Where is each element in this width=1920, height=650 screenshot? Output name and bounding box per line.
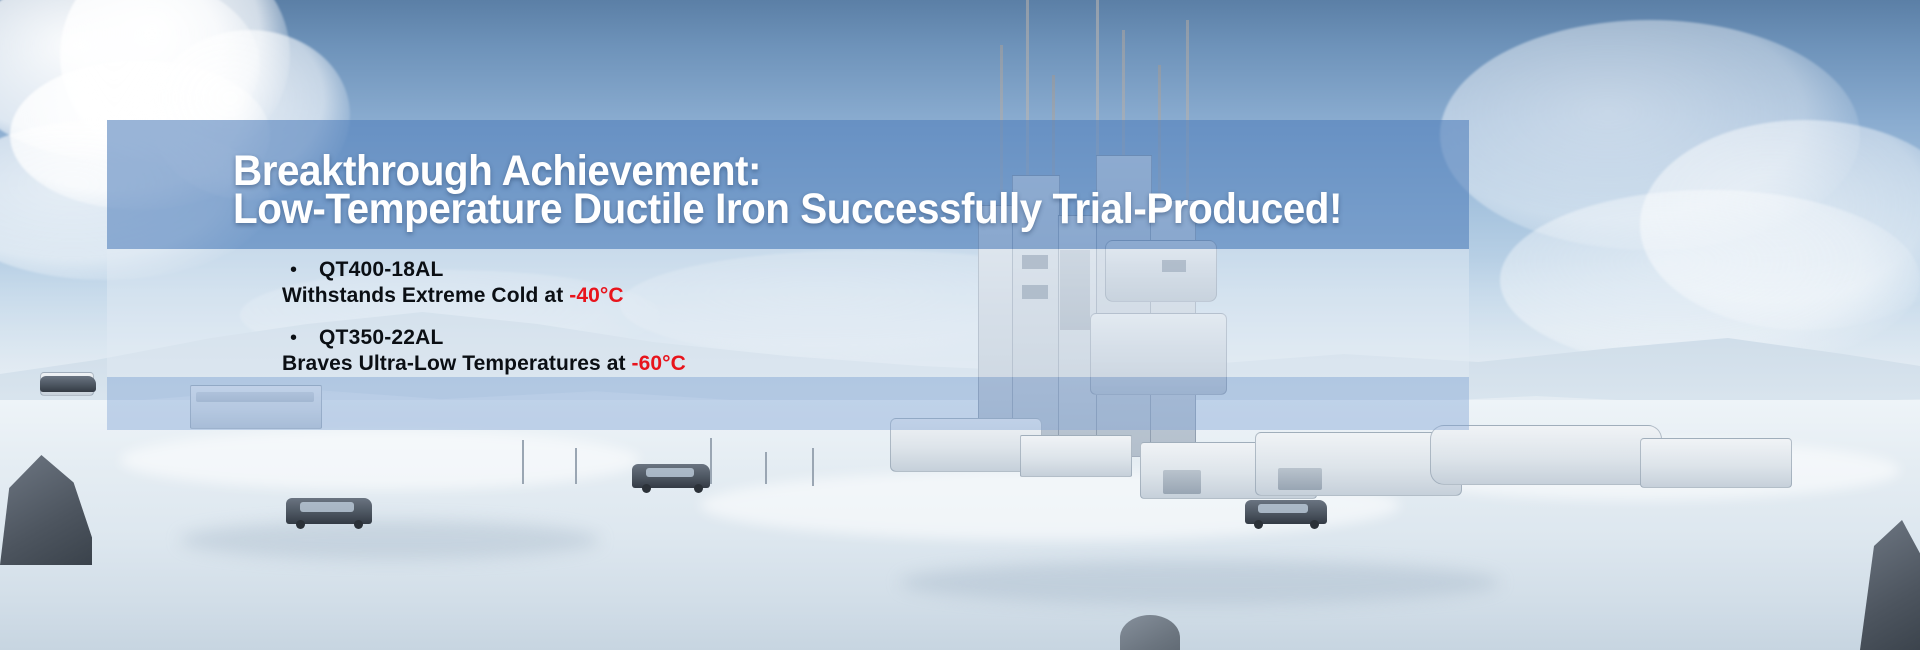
snow-drift: [120, 430, 640, 490]
vehicle-window: [300, 502, 354, 512]
list-item-heading: • QT350-22AL: [290, 326, 1182, 350]
bullet-dot-icon: •: [290, 260, 297, 280]
vehicle-icon: [40, 376, 96, 392]
temperature-value-2: -60°C: [632, 352, 686, 375]
description-text-1: Withstands Extreme Cold at: [282, 284, 569, 307]
utility-pole: [765, 452, 767, 484]
vehicle-wheel: [642, 484, 651, 493]
list-item: • QT350-22AL Braves Ultra-Low Temperatur…: [282, 326, 1182, 376]
vehicle-wheel: [354, 520, 363, 529]
description-text-2: Braves Ultra-Low Temperatures at: [282, 352, 632, 375]
utility-pole: [710, 438, 712, 484]
facility-building: [1020, 435, 1132, 477]
feature-list: • QT400-18AL Withstands Extreme Cold at …: [282, 258, 1182, 394]
temperature-value-1: -40°C: [569, 284, 623, 307]
bullet-dot-icon: •: [290, 328, 297, 348]
list-item-description-1: Withstands Extreme Cold at -40°C: [282, 284, 1182, 308]
grade-label-2: QT350-22AL: [319, 326, 444, 350]
headline-line-2: Low-Temperature Ductile Iron Successfull…: [233, 190, 1399, 228]
vehicle-window: [646, 468, 694, 477]
facility-detail: [1278, 468, 1322, 490]
snow-shadow: [180, 520, 600, 560]
utility-pole: [575, 448, 577, 484]
vehicle-wheel: [296, 520, 305, 529]
facility-building: [1640, 438, 1792, 488]
vehicle-window: [1258, 504, 1308, 513]
facility-detail: [1163, 470, 1201, 494]
snow-shadow: [900, 560, 1500, 605]
grade-label-1: QT400-18AL: [319, 258, 444, 282]
headline: Breakthrough Achievement: Low-Temperatur…: [233, 152, 1473, 228]
list-item: • QT400-18AL Withstands Extreme Cold at …: [282, 258, 1182, 308]
list-item-heading: • QT400-18AL: [290, 258, 1182, 282]
vehicle-wheel: [1254, 520, 1263, 529]
vehicle-wheel: [694, 484, 703, 493]
promo-banner: Breakthrough Achievement: Low-Temperatur…: [0, 0, 1920, 650]
utility-pole: [812, 448, 814, 486]
storage-tank: [1430, 425, 1662, 485]
utility-pole: [522, 440, 524, 484]
list-item-description-2: Braves Ultra-Low Temperatures at -60°C: [282, 352, 1182, 376]
vehicle-wheel: [1310, 520, 1319, 529]
